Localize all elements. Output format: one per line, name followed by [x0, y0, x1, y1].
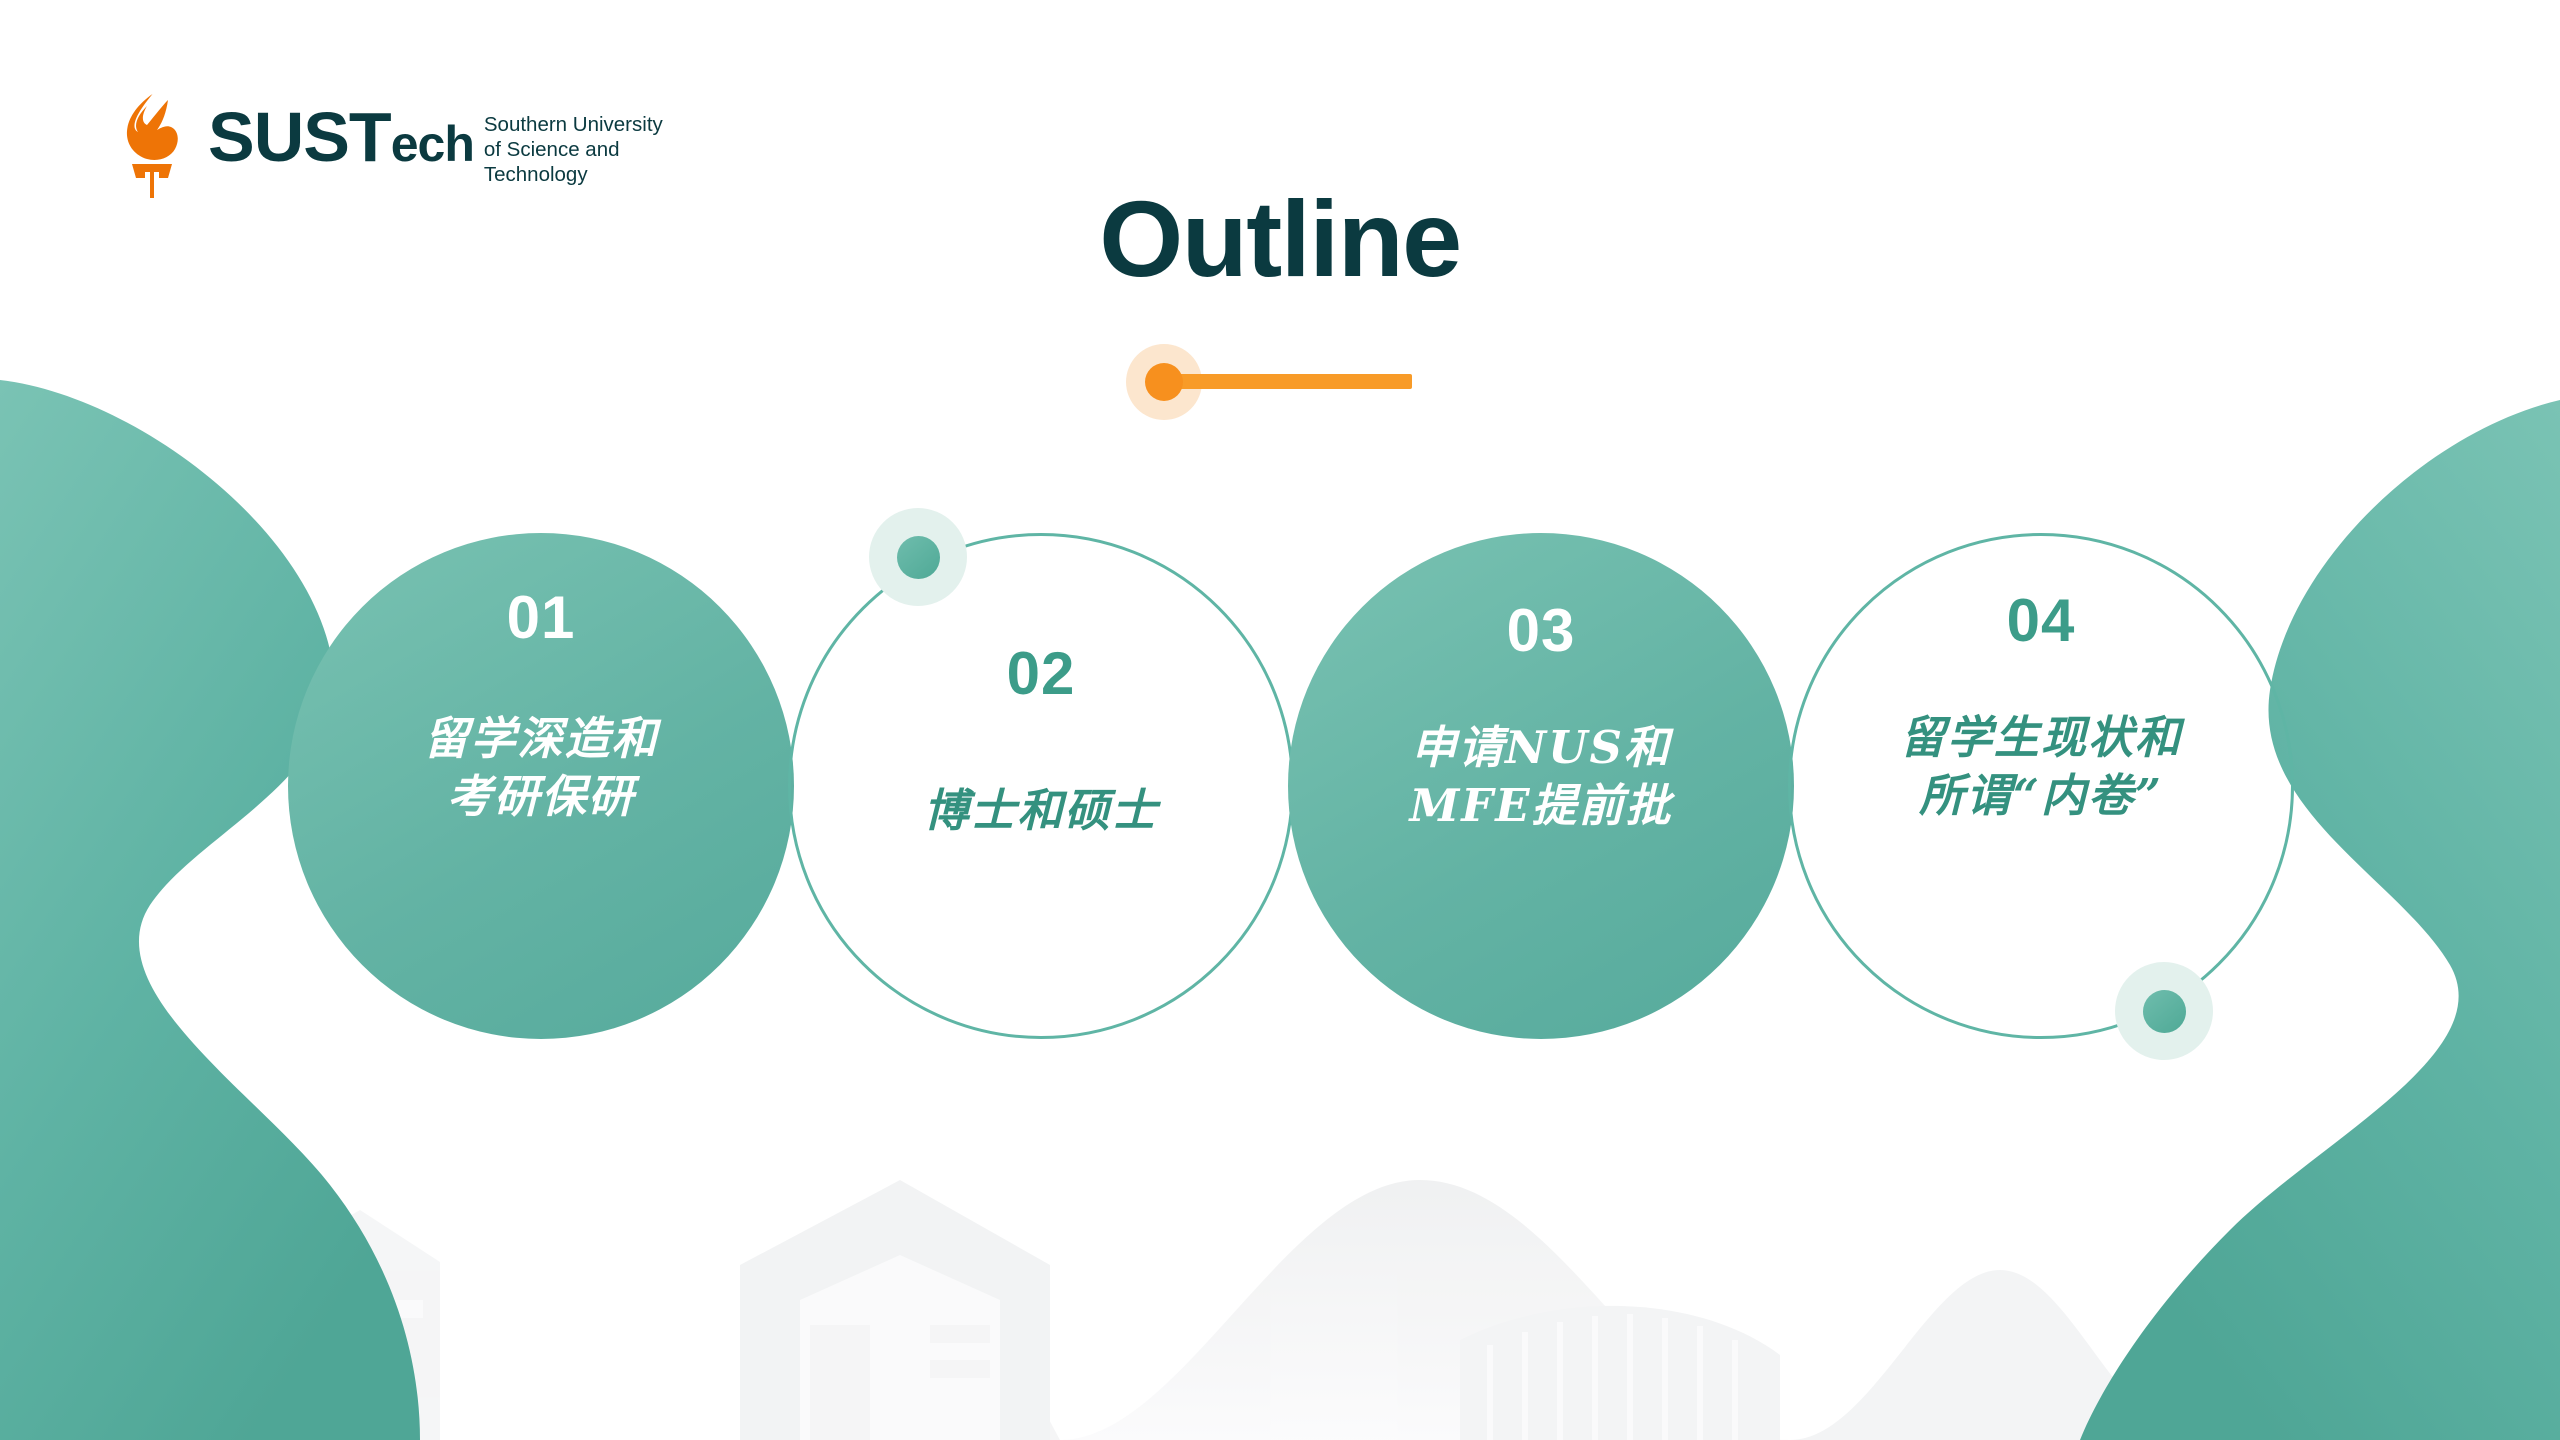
outline-item-04[interactable]: 04 留学生现状和 所谓“内卷” — [1788, 533, 2294, 1039]
outline-item-01-label: 留学深造和 考研保研 — [423, 710, 658, 825]
outline-item-01-number: 01 — [507, 588, 576, 648]
outline-item-03[interactable]: 03 申请NUS和 MFE提前批 — [1288, 533, 1794, 1039]
outline-items-row: 01 留学深造和 考研保研 02 博士和硕士 03 申请NUS和 MFE提前批 … — [0, 0, 2560, 1440]
outline-item-02-label: 博士和硕士 — [923, 782, 1158, 840]
outline-item-02[interactable]: 02 博士和硕士 — [788, 533, 1294, 1039]
outline-item-02-number: 02 — [1007, 644, 1076, 704]
orbit-dot-04 — [2115, 962, 2213, 1060]
outline-item-03-label: 申请NUS和 MFE提前批 — [1409, 719, 1672, 834]
outline-item-03-number: 03 — [1507, 601, 1576, 661]
outline-item-01[interactable]: 01 留学深造和 考研保研 — [288, 533, 794, 1039]
slide-canvas: SUSTech Southern University of Science a… — [0, 0, 2560, 1440]
outline-item-04-label: 留学生现状和 所谓“内卷” — [1900, 709, 2182, 824]
outline-item-04-number: 04 — [2007, 591, 2076, 651]
orbit-dot-core — [897, 536, 940, 579]
orbit-dot-core — [2143, 990, 2186, 1033]
orbit-dot-02 — [869, 508, 967, 606]
